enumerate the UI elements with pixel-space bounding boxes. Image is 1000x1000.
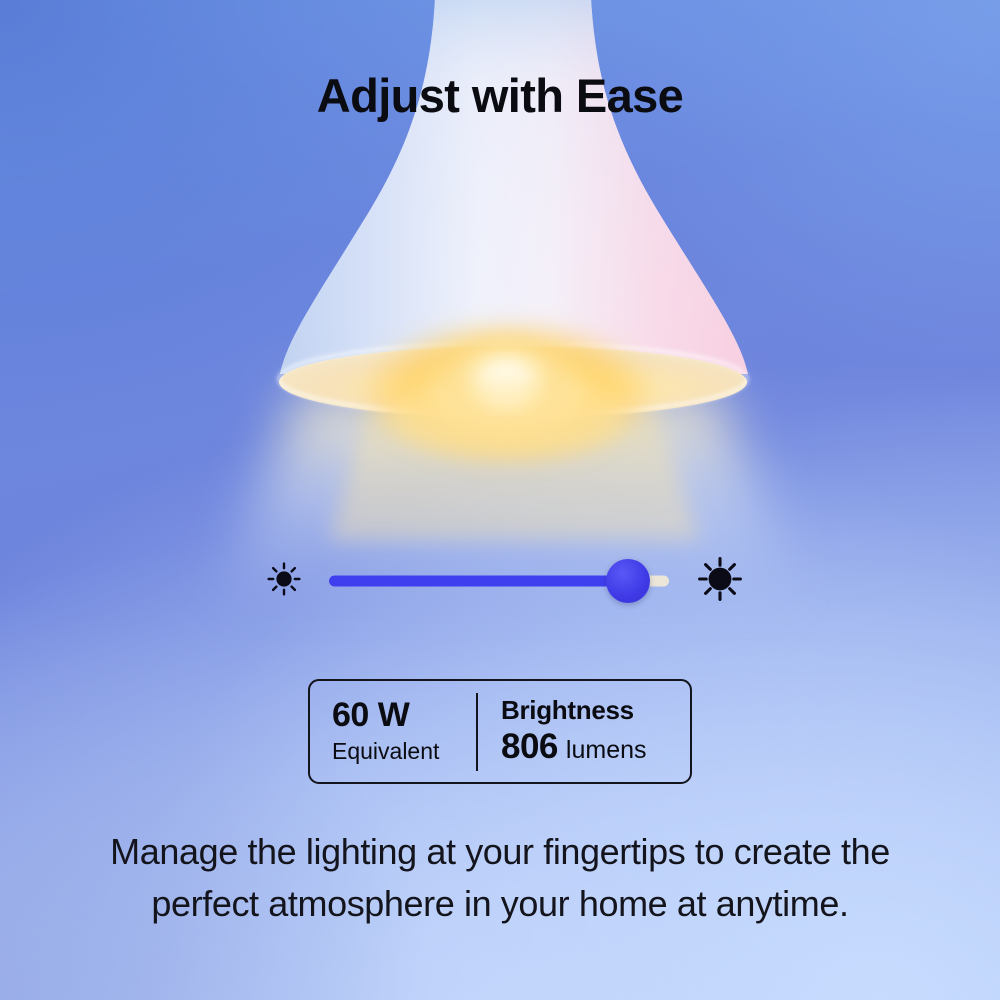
sun-small-icon [265, 560, 303, 603]
page-title: Adjust with Ease [0, 68, 1000, 123]
spec-box: 60 W Equivalent Brightness 806 lumens [308, 679, 692, 784]
spec-wattage: 60 W Equivalent [310, 681, 476, 782]
slider-track-fill [329, 576, 628, 587]
product-feature-banner: Adjust with Ease [0, 0, 1000, 1000]
sun-large-icon [695, 554, 745, 609]
brightness-measure: 806 lumens [501, 727, 647, 767]
slider-thumb[interactable] [606, 559, 650, 603]
brightness-unit: lumens [566, 736, 647, 765]
brightness-slider[interactable] [329, 561, 669, 601]
lamp-shade [280, 0, 748, 374]
spec-brightness: Brightness 806 lumens [478, 681, 690, 782]
wattage-value: 60 W [332, 697, 409, 733]
wattage-label: Equivalent [332, 737, 439, 766]
caption-text: Manage the lighting at your fingertips t… [70, 826, 930, 930]
brightness-slider-row[interactable] [265, 552, 745, 610]
brightness-label: Brightness [501, 696, 634, 725]
rim-spill [388, 378, 628, 458]
brightness-value: 806 [501, 727, 558, 767]
